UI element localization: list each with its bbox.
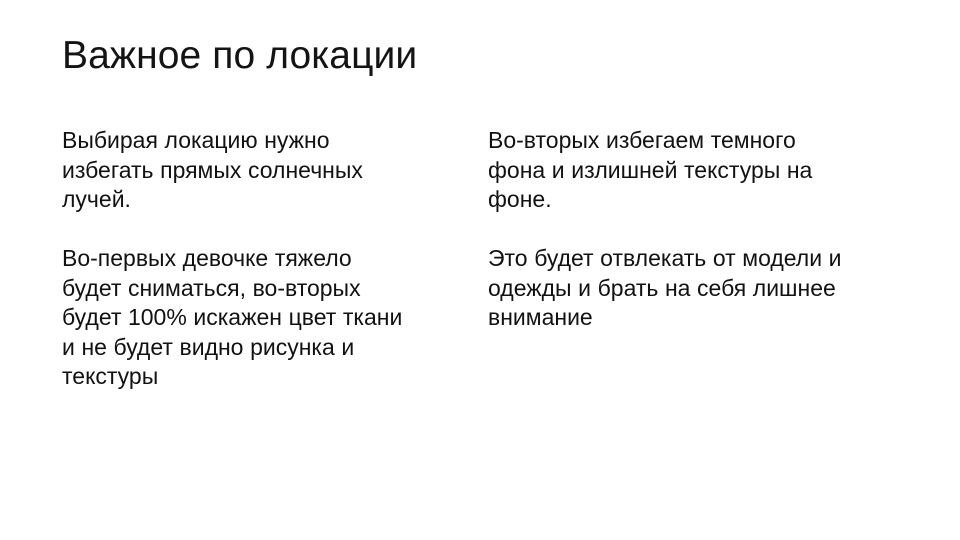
paragraph: Выбирая локацию нужно избегать прямых со…	[62, 126, 414, 215]
paragraph: Это будет отвлекать от модели и одежды и…	[488, 244, 854, 333]
slide-body: Выбирая локацию нужно избегать прямых со…	[0, 126, 960, 416]
paragraph: Во-первых девочке тяжело будет сниматься…	[62, 244, 414, 392]
slide: Важное по локации Выбирая локацию нужно …	[0, 0, 960, 540]
paragraph: Во-вторых избегаем темного фона и излишн…	[488, 126, 854, 215]
slide-title: Важное по локации	[62, 33, 902, 79]
text-column-right: Во-вторых избегаем темного фона и излишн…	[488, 126, 854, 333]
text-column-left: Выбирая локацию нужно избегать прямых со…	[62, 126, 414, 392]
